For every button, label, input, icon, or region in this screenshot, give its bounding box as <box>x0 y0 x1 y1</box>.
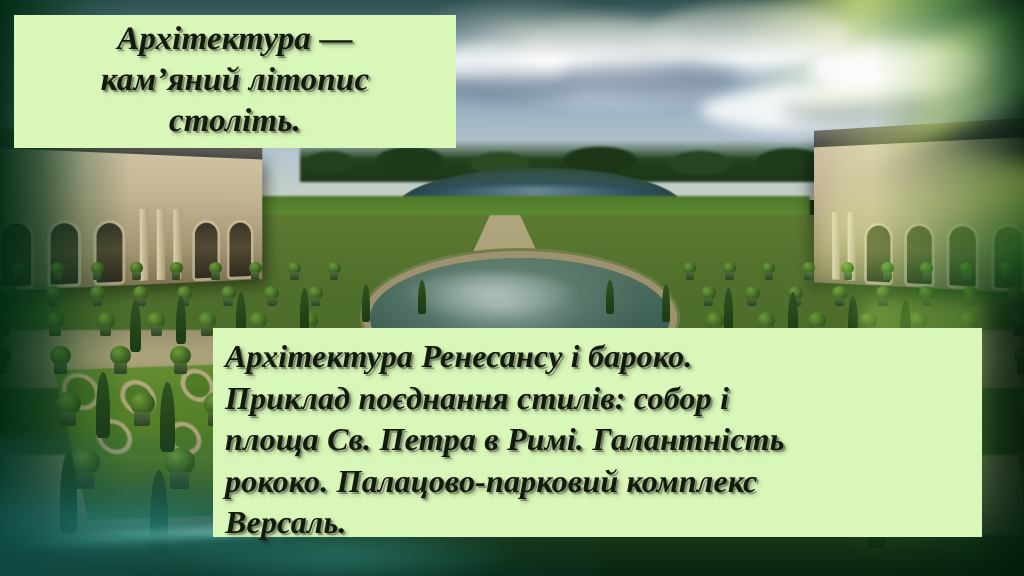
tree-planter <box>330 272 338 279</box>
tree-planter <box>174 363 187 375</box>
tree-planter <box>201 326 213 336</box>
tree-planter <box>835 298 845 306</box>
body-line-5: Версаль. <box>225 502 970 544</box>
cypress-tree <box>418 280 426 314</box>
tree-planter <box>172 272 180 279</box>
tree-planter <box>686 272 694 279</box>
tree-planter <box>251 272 259 279</box>
tree-planter <box>223 298 233 306</box>
title-line-1: Архітектура — <box>24 19 446 60</box>
tree-planter <box>151 326 163 336</box>
tree-planter <box>804 272 812 279</box>
title-line-2: кам’яний літопис <box>24 60 446 101</box>
tree-planter <box>725 272 733 279</box>
tree-planter <box>290 272 298 279</box>
tree-planter <box>134 412 150 426</box>
tree-planter <box>267 298 277 306</box>
tree-planter <box>132 272 140 279</box>
tree-planter <box>211 272 219 279</box>
title-line-3: століть. <box>24 101 446 142</box>
cloud-shadow <box>560 62 740 96</box>
body-line-2: Приклад поєднання стилів: собор і <box>225 378 970 420</box>
basin-reflection <box>400 272 580 322</box>
tree-planter <box>704 298 714 306</box>
body-text-box: Архітектура Ренесансу і бароко. Приклад … <box>213 328 982 537</box>
body-line-4: рококо. Палацово-парковий комплекс <box>225 461 970 503</box>
presentation-slide: Архітектура — кам’яний літопис століть. … <box>0 0 1024 576</box>
tree-planter <box>765 272 773 279</box>
tree-planter <box>747 298 757 306</box>
arch-window <box>229 223 251 277</box>
body-line-3: площа Св. Петра в Римі. Галантність <box>225 419 970 461</box>
column <box>157 209 165 280</box>
tree-planter <box>311 298 321 306</box>
title-text-box: Архітектура — кам’яний літопис століть. <box>14 15 456 148</box>
cypress-tree <box>606 280 614 314</box>
body-line-1: Архітектура Ренесансу і бароко. <box>225 336 970 378</box>
cloud-shadow <box>440 74 580 100</box>
